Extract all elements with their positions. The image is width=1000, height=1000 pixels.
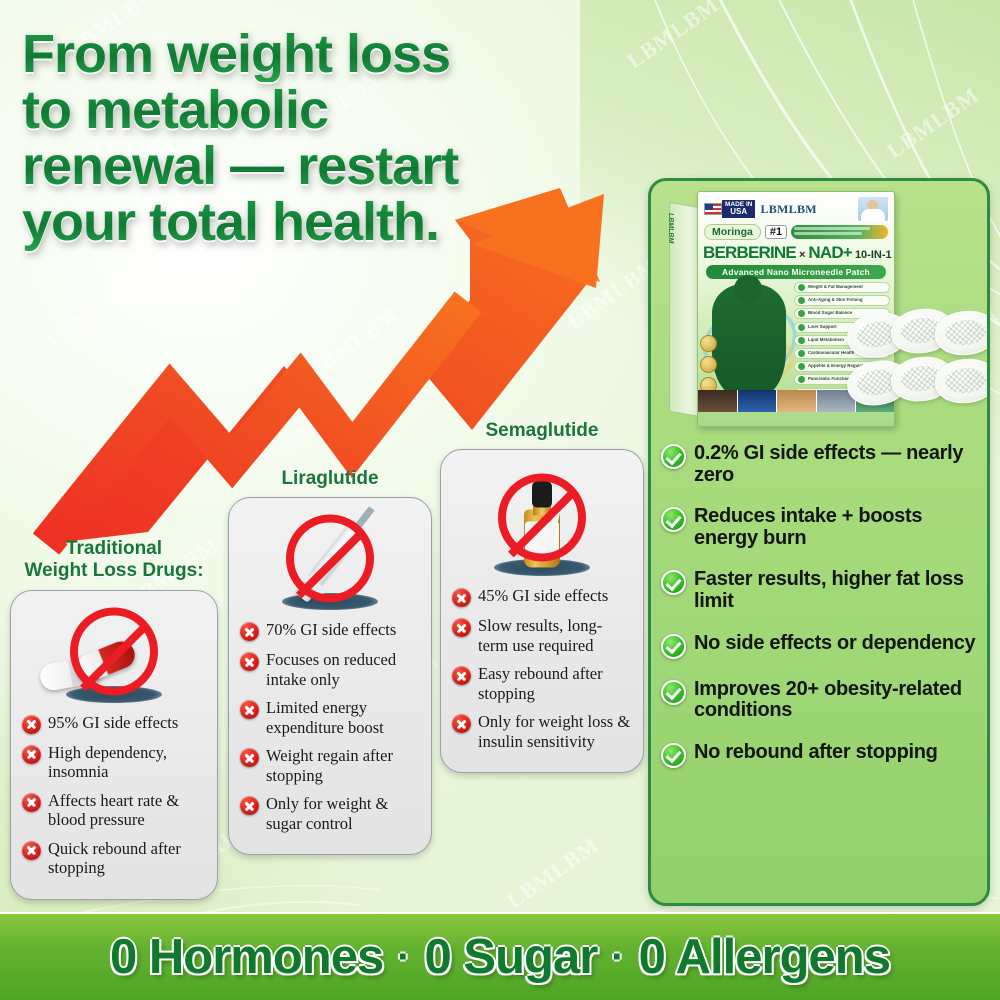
list-item-label: Only for weight loss & insulin sensitivi… bbox=[478, 712, 632, 751]
body-silhouette-illustration bbox=[712, 284, 786, 396]
package-topbar: MADE IN USA LBMLBM bbox=[698, 192, 894, 223]
package-spine-brand: LBMLBM bbox=[667, 212, 674, 244]
cross-icon bbox=[240, 700, 259, 719]
list-item: Slow results, long-term use required bbox=[452, 616, 632, 655]
list-item: Affects heart rate & blood pressure bbox=[22, 791, 206, 830]
list-item: 70% GI side effects bbox=[240, 620, 420, 641]
list-item: Weight regain after stopping bbox=[240, 746, 420, 785]
banned-syringe-image bbox=[240, 508, 420, 616]
comparison-card-traditional: Traditional Weight Loss Drugs: 95% GI si… bbox=[10, 538, 218, 900]
package-feature-item: Weight & Fat Management bbox=[794, 282, 890, 293]
list-item-label: High dependency, insomnia bbox=[48, 743, 206, 782]
package-feature-label: Liver Support bbox=[808, 325, 837, 330]
claim-hormones: 0 Hormones bbox=[110, 929, 383, 985]
check-icon bbox=[661, 444, 686, 469]
drawback-list-semaglutide: 45% GI side effects Slow results, long-t… bbox=[452, 586, 632, 751]
ingredient-tag: Moringa bbox=[704, 224, 761, 240]
cross-icon bbox=[452, 588, 471, 607]
comparison-card-semaglutide: Semaglutide 45% GI side effects Slow res… bbox=[440, 420, 644, 773]
list-item: High dependency, insomnia bbox=[22, 743, 206, 782]
banned-dropper-bottle-image bbox=[452, 460, 632, 582]
benefit-label: No rebound after stopping bbox=[694, 742, 938, 764]
list-item: Only for weight loss & insulin sensitivi… bbox=[452, 712, 632, 751]
list-item-label: Weight regain after stopping bbox=[266, 746, 420, 785]
cross-icon bbox=[22, 745, 41, 764]
package-feature-item: Anti-Aging & Skin Firming bbox=[794, 295, 890, 306]
benefit-label: No side effects or dependency bbox=[694, 633, 975, 655]
benefit-label: Faster results, higher fat loss limit bbox=[694, 569, 983, 612]
prohibition-sign-icon bbox=[286, 515, 374, 603]
headline-line-1: From weight loss bbox=[22, 26, 582, 82]
cross-icon bbox=[22, 841, 41, 860]
separator-dot: · bbox=[611, 935, 624, 980]
package-title-suffix: 10-IN-1 bbox=[855, 249, 892, 261]
cross-icon bbox=[240, 622, 259, 641]
list-item: Focuses on reduced intake only bbox=[240, 650, 420, 689]
benefit-label: 0.2% GI side effects — nearly zero bbox=[694, 443, 983, 486]
list-item: Quick rebound after stopping bbox=[22, 839, 206, 878]
package-title: BERBERINE × NAD+ 10-IN-1 bbox=[698, 241, 894, 263]
list-item: No side effects or dependency bbox=[661, 633, 983, 659]
list-item: No rebound after stopping bbox=[661, 742, 983, 768]
check-dot-icon bbox=[798, 337, 805, 344]
card-body-liraglutide: 70% GI side effects Focuses on reduced i… bbox=[228, 497, 432, 855]
list-item: Reduces intake + boosts energy burn bbox=[661, 506, 983, 549]
card-title-line-2: Weight Loss Drugs: bbox=[24, 560, 203, 581]
card-body-semaglutide: 45% GI side effects Slow results, long-t… bbox=[440, 449, 644, 773]
headline-line-3: renewal — restart bbox=[22, 138, 582, 194]
check-dot-icon bbox=[798, 310, 805, 317]
check-dot-icon bbox=[798, 324, 805, 331]
list-item: 45% GI side effects bbox=[452, 586, 632, 607]
made-in-usa-badge: MADE IN USA bbox=[704, 200, 755, 218]
headline-line-2: to metabolic bbox=[22, 82, 582, 138]
drawback-list-traditional: 95% GI side effects High dependency, ins… bbox=[22, 713, 206, 878]
usa-flag-icon bbox=[704, 203, 722, 215]
prohibition-sign-icon bbox=[70, 607, 158, 695]
cross-icon bbox=[22, 715, 41, 734]
usa-label: USA bbox=[725, 208, 752, 217]
card-title-traditional: Traditional Weight Loss Drugs: bbox=[10, 538, 218, 583]
list-item-label: Quick rebound after stopping bbox=[48, 839, 206, 878]
claim-sugar: 0 Sugar bbox=[425, 929, 598, 985]
list-item-label: Slow results, long-term use required bbox=[478, 616, 632, 655]
package-feature-label: Anti-Aging & Skin Firming bbox=[808, 298, 863, 303]
list-item-label: 95% GI side effects bbox=[48, 713, 178, 732]
list-item: 95% GI side effects bbox=[22, 713, 206, 734]
list-item-label: Limited energy expenditure boost bbox=[266, 698, 420, 737]
benefit-list: 0.2% GI side effects — nearly zero Reduc… bbox=[651, 443, 990, 788]
list-item-label: 70% GI side effects bbox=[266, 620, 396, 639]
card-body-traditional: 95% GI side effects High dependency, ins… bbox=[10, 590, 218, 900]
check-icon bbox=[661, 570, 686, 595]
package-brand: LBMLBM bbox=[760, 202, 816, 217]
check-icon bbox=[661, 743, 686, 768]
microneedle-patches bbox=[847, 309, 990, 427]
list-item: Faster results, higher fat loss limit bbox=[661, 569, 983, 612]
list-item-label: Only for weight & sugar control bbox=[266, 794, 420, 833]
rank-badge: #1 bbox=[765, 225, 787, 239]
comparison-card-liraglutide: Liraglutide 70% GI side effects Focuses … bbox=[228, 468, 432, 855]
package-title-nad: NAD+ bbox=[808, 243, 852, 263]
card-title-liraglutide: Liraglutide bbox=[228, 468, 432, 490]
cross-icon bbox=[452, 714, 471, 733]
list-item: Improves 20+ obesity-related conditions bbox=[661, 679, 983, 722]
product-showcase: LBMLBM MADE IN USA LBMLBM Moringa bbox=[651, 181, 990, 439]
check-dot-icon bbox=[798, 350, 805, 357]
cross-icon bbox=[452, 618, 471, 637]
list-item-label: 45% GI side effects bbox=[478, 586, 608, 605]
package-feature-label: Blood Sugar Balance bbox=[808, 311, 852, 316]
list-item: Easy rebound after stopping bbox=[452, 664, 632, 703]
prohibition-sign-icon bbox=[498, 474, 586, 562]
cross-icon bbox=[22, 793, 41, 812]
check-icon bbox=[661, 634, 686, 659]
cross-icon bbox=[240, 652, 259, 671]
claim-bar bbox=[791, 225, 888, 239]
cross-icon bbox=[452, 666, 471, 685]
package-title-berberine: BERBERINE bbox=[703, 243, 796, 263]
drawback-list-liraglutide: 70% GI side effects Focuses on reduced i… bbox=[240, 620, 420, 833]
list-item: Only for weight & sugar control bbox=[240, 794, 420, 833]
cross-icon bbox=[240, 748, 259, 767]
claim-allergens: 0 Allergens bbox=[639, 929, 890, 985]
benefit-label: Improves 20+ obesity-related conditions bbox=[694, 679, 983, 722]
list-item: 0.2% GI side effects — nearly zero bbox=[661, 443, 983, 486]
banned-pills-image bbox=[22, 601, 206, 709]
check-dot-icon bbox=[798, 376, 805, 383]
separator-dot: · bbox=[397, 935, 410, 980]
bottom-claims-banner: 0 Hormones · 0 Sugar · 0 Allergens bbox=[0, 912, 1000, 1000]
list-item: Limited energy expenditure boost bbox=[240, 698, 420, 737]
check-dot-icon bbox=[798, 363, 805, 370]
page-title: From weight loss to metabolic renewal — … bbox=[22, 26, 582, 251]
cross-icon bbox=[240, 796, 259, 815]
package-feature-label: Pancreatic Function bbox=[808, 377, 850, 382]
list-item-label: Easy rebound after stopping bbox=[478, 664, 632, 703]
package-spine: LBMLBM bbox=[669, 202, 699, 417]
list-item-label: Focuses on reduced intake only bbox=[266, 650, 420, 689]
card-title-line-1: Traditional bbox=[66, 538, 162, 559]
package-feature-label: Weight & Fat Management bbox=[808, 285, 863, 290]
check-icon bbox=[661, 507, 686, 532]
certification-seals bbox=[700, 335, 717, 398]
made-in-usa-tag: MADE IN USA bbox=[722, 200, 755, 218]
package-row-tags: Moringa #1 bbox=[698, 223, 894, 241]
package-title-x: × bbox=[799, 249, 805, 261]
benefits-panel: LBMLBM MADE IN USA LBMLBM Moringa bbox=[648, 178, 990, 906]
benefit-label: Reduces intake + boosts energy burn bbox=[694, 506, 983, 549]
headline-line-4: your total health. bbox=[22, 194, 582, 250]
package-feature-label: Lipid Metabolism bbox=[808, 338, 844, 343]
check-icon bbox=[661, 680, 686, 705]
doctor-photo bbox=[858, 197, 888, 221]
check-dot-icon bbox=[798, 284, 805, 291]
package-subtitle: Advanced Nano Microneedle Patch bbox=[706, 265, 886, 279]
list-item-label: Affects heart rate & blood pressure bbox=[48, 791, 206, 830]
card-title-semaglutide: Semaglutide bbox=[440, 420, 644, 442]
check-dot-icon bbox=[798, 297, 805, 304]
